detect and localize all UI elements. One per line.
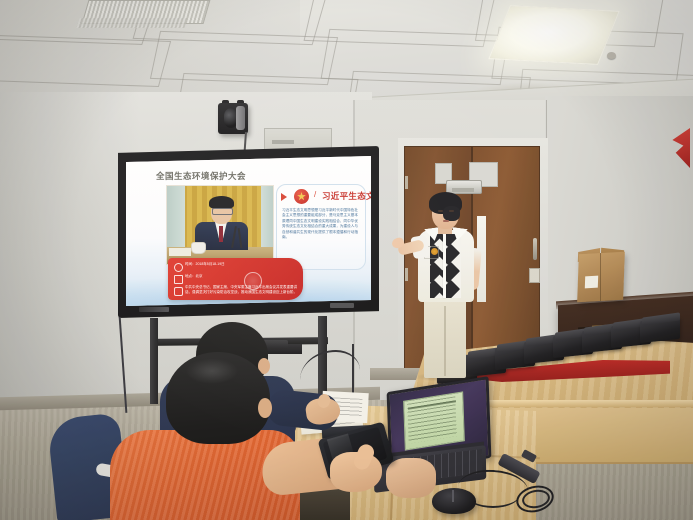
info-place: 地点：北京: [185, 274, 203, 279]
display-brand-mark: [330, 303, 354, 308]
presenter-mouth: [443, 220, 449, 222]
photo-teacup: [191, 242, 206, 254]
info-time: 时间：2018年5月18-19日: [185, 262, 225, 267]
slide-heading: 习近平生态文明思想: [322, 190, 371, 202]
door-closer-arm: [452, 188, 474, 192]
door-hinge: [405, 176, 408, 189]
slide-body-text: 习近平生态文明思想是习近平新时代中国特色社会主义思想的重要组成部分，是马克思主义…: [282, 208, 358, 240]
presenter-trouser-seam: [444, 306, 446, 376]
box-seam: [600, 253, 601, 301]
slide-arrow-icon: [281, 193, 287, 201]
person-icon: [174, 287, 183, 296]
slide-info-box: 时间：2018年5月18-19日 地点：北京 中共中央总书记、国家主席、中央军委…: [168, 258, 303, 300]
attendee-orange-ear: [258, 398, 272, 418]
door-lock-plate: [529, 268, 540, 283]
display-indicator-bar: [139, 307, 169, 312]
presenter-hair-bun: [443, 206, 460, 221]
presenter-eye: [449, 210, 454, 212]
presenter-button-placket: [443, 234, 446, 298]
camera-barrel-icon: [236, 106, 245, 130]
box-label: [585, 276, 598, 289]
location-icon: [174, 275, 183, 284]
attendee-orange-hand-right: [386, 458, 436, 498]
photo-person-glasses: [212, 208, 233, 215]
smoke-detector-icon: [607, 52, 616, 59]
computer-mouse[interactable]: [432, 488, 476, 514]
ceiling-panel-light: [488, 5, 619, 65]
slide-photo: [166, 185, 274, 265]
hair-highlight: [186, 358, 238, 384]
conference-room-photo: 全国生态环境保护大会 / 习近平生态文明思想 习近平生态文明思想是习近平新时代中…: [0, 0, 693, 520]
presenter-badge-icon: [431, 248, 438, 255]
clock-icon: [174, 263, 183, 272]
door-hinge: [405, 268, 408, 281]
presentation-display[interactable]: 全国生态环境保护大会 / 习近平生态文明思想 习近平生态文明思想是习近平新时代中…: [126, 156, 371, 306]
presenter-eye: [438, 210, 443, 212]
slide-title: 全国生态环境保护大会: [156, 170, 246, 182]
slide-slash: /: [314, 190, 316, 199]
slide-seal-icon: [244, 272, 262, 290]
door-handle[interactable]: [533, 238, 537, 260]
photo-document: [169, 248, 191, 256]
hatch-label: [272, 140, 294, 144]
air-vent-secondary: [76, 18, 187, 28]
info-content: 中共中央总书记、国家主席、中央军委主席习近平出席会议并发表重要讲话，强调坚决打好…: [185, 285, 297, 295]
mouse-button-split: [452, 490, 454, 502]
photo-person-tie: [219, 226, 223, 242]
